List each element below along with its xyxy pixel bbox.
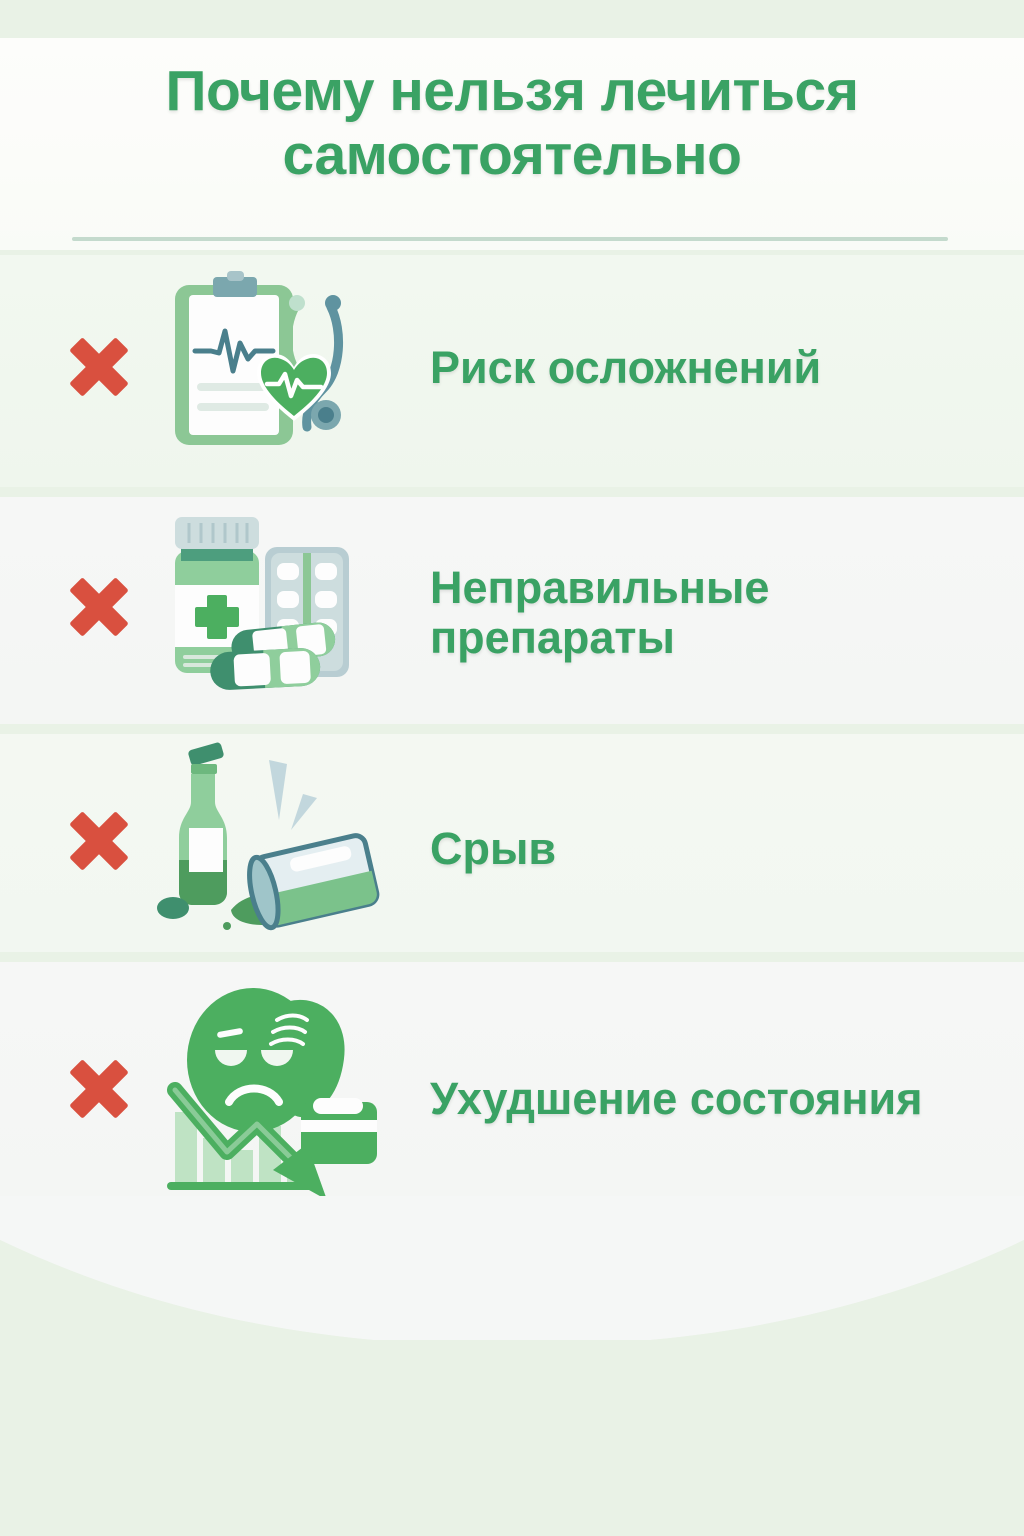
list-item[interactable]: Ухудшение состояния xyxy=(0,962,1024,1224)
list-item-label: Ухудшение состояния xyxy=(430,1074,1010,1124)
red-x-icon xyxy=(60,802,138,880)
title-divider xyxy=(72,237,948,241)
list-item-label: Срыв xyxy=(430,824,1010,874)
page-title: Почему нельзя лечиться самостоятельно xyxy=(0,60,1024,188)
list-item[interactable]: Риск осложнений xyxy=(0,255,1024,487)
list-item[interactable]: Неправильные препараты xyxy=(0,497,1024,724)
pill-bottle-blister-capsules-icon xyxy=(145,509,385,709)
red-x-icon xyxy=(60,568,138,646)
list-item-label: Неправильные препараты xyxy=(430,563,1010,662)
footer-area xyxy=(0,1340,1024,1536)
reasons-list: Риск осложнений xyxy=(0,255,1024,1234)
red-x-icon xyxy=(60,1050,138,1128)
red-x-icon xyxy=(60,328,138,406)
list-item-label: Риск осложнений xyxy=(430,343,1010,393)
list-item[interactable]: Срыв xyxy=(0,734,1024,952)
infographic-poster: Почему нельзя лечиться самостоятельно xyxy=(0,0,1024,1536)
bottle-spilled-glass-icon xyxy=(145,742,385,947)
header-panel: Почему нельзя лечиться самостоятельно xyxy=(0,38,1024,250)
clipboard-ecg-heart-stethoscope-icon xyxy=(145,267,385,472)
bottom-wave-decoration xyxy=(0,1196,1024,1356)
sad-face-declining-chart-briefcase-icon xyxy=(145,984,385,1214)
